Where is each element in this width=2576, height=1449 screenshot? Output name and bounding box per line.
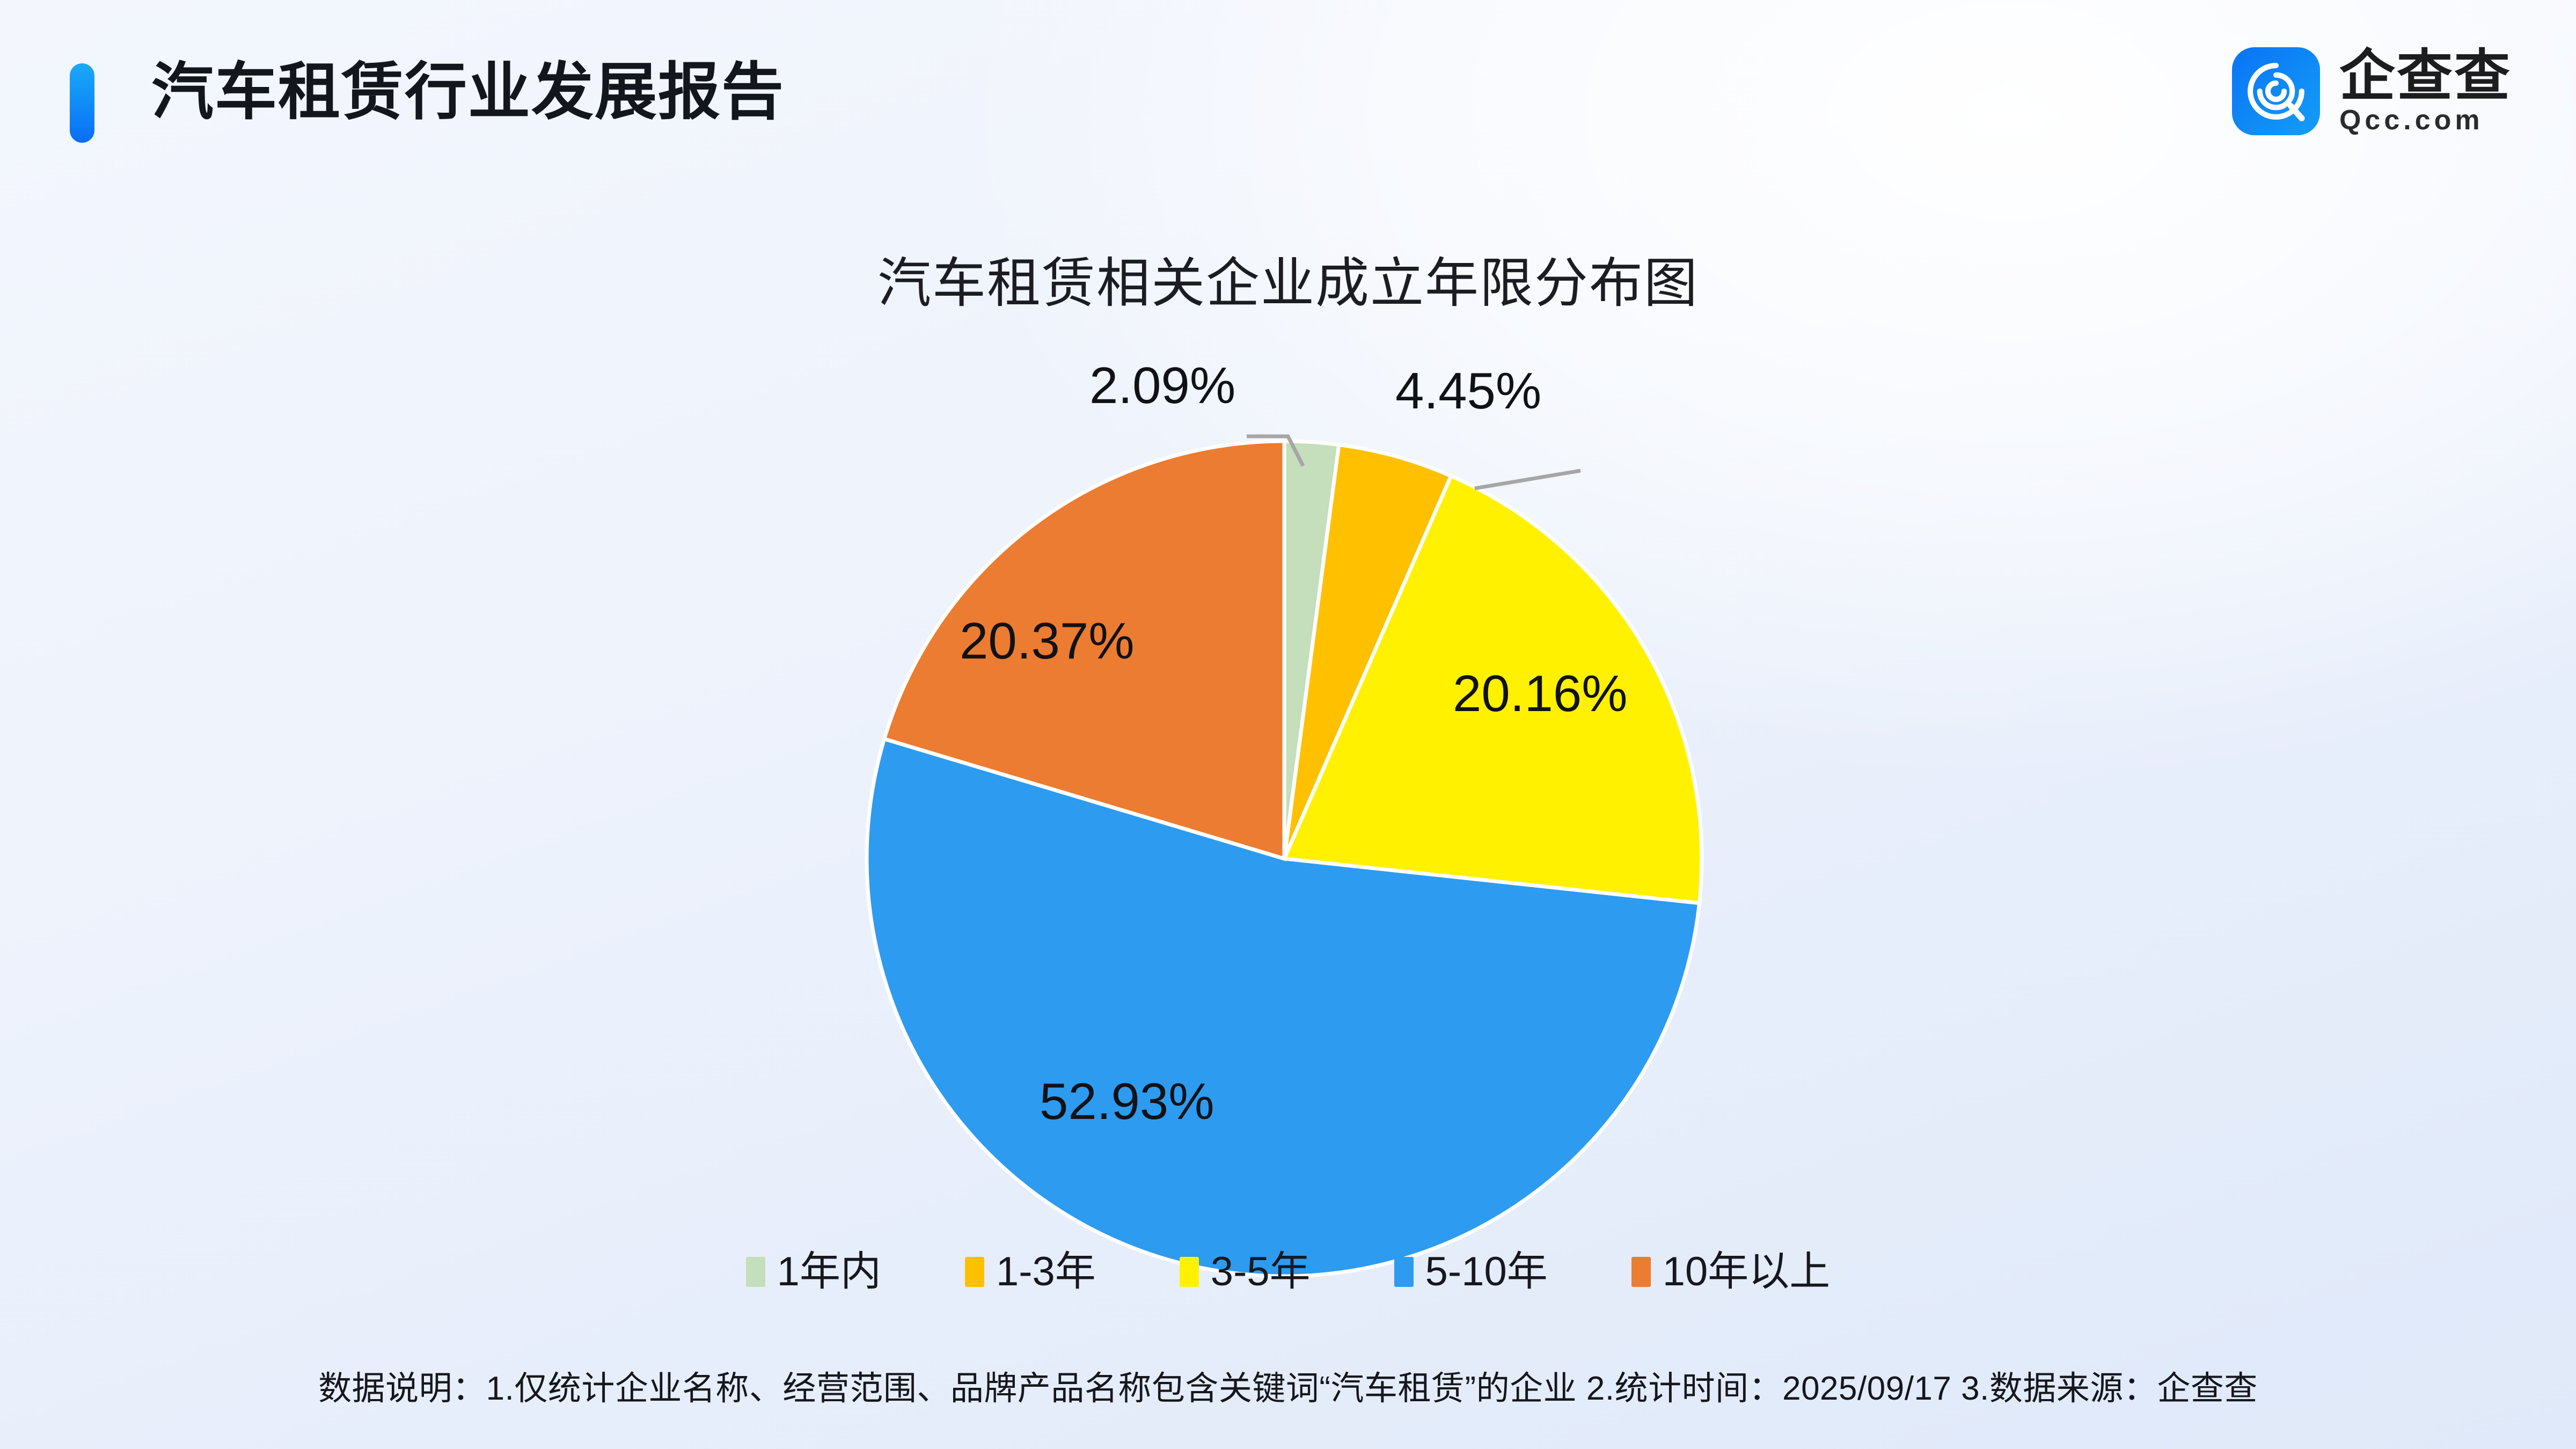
legend-swatch-icon: [1180, 1257, 1199, 1287]
legend-swatch-icon: [746, 1257, 765, 1287]
slice-label-1-3年: 4.45%: [1395, 362, 1541, 421]
brand-name-cn: 企查查: [2339, 48, 2512, 104]
legend-item-label: 3-5年: [1211, 1252, 1311, 1292]
legend-item-10年以上[interactable]: 10年以上: [1631, 1252, 1831, 1292]
legend-swatch-icon: [1394, 1257, 1414, 1287]
brand-text: 企查查 Qcc.com: [2339, 48, 2512, 134]
legend-item-5-10年[interactable]: 5-10年: [1394, 1252, 1548, 1292]
legend-item-label: 1-3年: [996, 1252, 1096, 1292]
legend-swatch-icon: [1631, 1257, 1651, 1287]
pie-chart: 2.09% 4.45% 20.16% 52.93% 20.37%: [0, 322, 2576, 1288]
slice-label-1年内: 2.09%: [1089, 356, 1235, 415]
pie-graphic: [863, 437, 1706, 1280]
slice-label-5-10年: 52.93%: [1040, 1072, 1214, 1131]
chart-title: 汽车租赁相关企业成立年限分布图: [0, 239, 2576, 317]
chart-legend: 1年内1-3年3-5年5-10年10年以上: [0, 1252, 2576, 1292]
legend-swatch-icon: [965, 1257, 984, 1287]
page-header: 汽车租赁行业发展报告 企查查 Qcc.com: [0, 0, 2576, 199]
data-note: 数据说明：1.仅统计企业名称、经营范围、品牌产品名称包含关键词“汽车租赁”的企业…: [0, 1361, 2576, 1409]
title-accent-bar: [70, 63, 94, 143]
legend-item-1年内[interactable]: 1年内: [746, 1252, 881, 1292]
brand-logo: 企查查 Qcc.com: [2232, 47, 2512, 135]
legend-item-label: 10年以上: [1663, 1252, 1831, 1292]
legend-item-label: 5-10年: [1425, 1252, 1548, 1292]
report-page: 汽车租赁行业发展报告 企查查 Qcc.com 汽车租赁相关企业成立年限分布图: [0, 0, 2576, 1449]
legend-item-1-3年[interactable]: 1-3年: [965, 1252, 1096, 1292]
page-title: 汽车租赁行业发展报告: [151, 52, 785, 133]
slice-label-10年以上: 20.37%: [960, 612, 1135, 671]
legend-item-label: 1年内: [777, 1252, 881, 1292]
qcc-spiral-logo-icon: [2232, 47, 2320, 135]
slice-label-3-5年: 20.16%: [1453, 664, 1628, 723]
legend-item-3-5年[interactable]: 3-5年: [1180, 1252, 1311, 1292]
brand-name-en: Qcc.com: [2339, 106, 2512, 134]
